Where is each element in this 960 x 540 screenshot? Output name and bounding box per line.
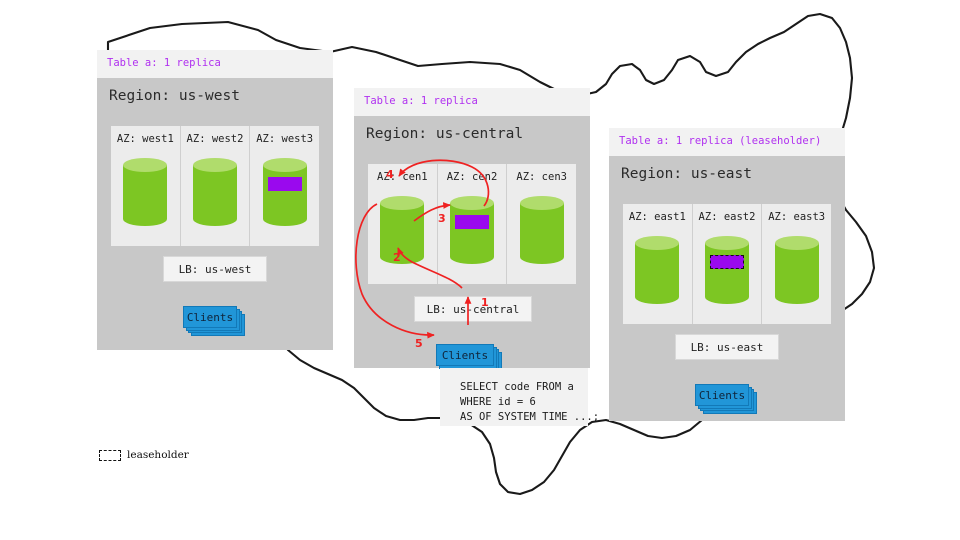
flow-arrow-2 (398, 248, 462, 288)
flow-step-label-2: 2 (393, 251, 401, 264)
flow-arrow-5 (356, 204, 434, 335)
flow-step-label-3: 3 (438, 212, 446, 225)
diagram-canvas: Table a: 1 replica Region: us-west AZ: w… (0, 0, 960, 540)
flow-arrows-layer (0, 0, 960, 540)
flow-step-label-1: 1 (481, 296, 489, 309)
flow-step-label-5: 5 (415, 337, 423, 350)
flow-step-label-4: 4 (386, 168, 394, 181)
flow-arrow-4 (399, 160, 488, 206)
